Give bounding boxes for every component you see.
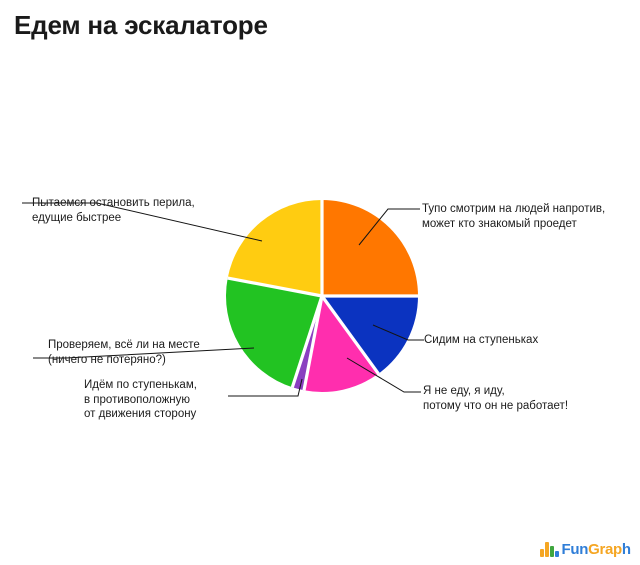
logo-text-h: h	[622, 541, 631, 558]
fungraph-wordmark: FunGraph	[562, 542, 631, 557]
slice-label-handrail: Пытаемся остановить перила, едущие быстр…	[32, 196, 232, 225]
logo-text-grap: Grap	[588, 541, 622, 558]
slice-label-sit: Сидим на ступеньках	[424, 333, 594, 348]
pie-slice-stare[interactable]	[322, 200, 418, 296]
slice-label-stare: Тупо смотрим на людей напротив, может кт…	[422, 202, 637, 231]
fungraph-logo[interactable]: FunGraph	[540, 533, 632, 557]
slice-label-walkback: Идём по ступенькам, в противоположную от…	[84, 378, 239, 422]
slice-label-broken: Я не еду, я иду, потому что он не работа…	[423, 384, 618, 413]
slice-label-check: Проверяем, всё ли на месте (ничего не по…	[48, 338, 238, 367]
bar-chart-icon	[540, 541, 559, 557]
logo-text-fun: Fun	[562, 541, 589, 558]
pie-chart	[0, 0, 640, 565]
